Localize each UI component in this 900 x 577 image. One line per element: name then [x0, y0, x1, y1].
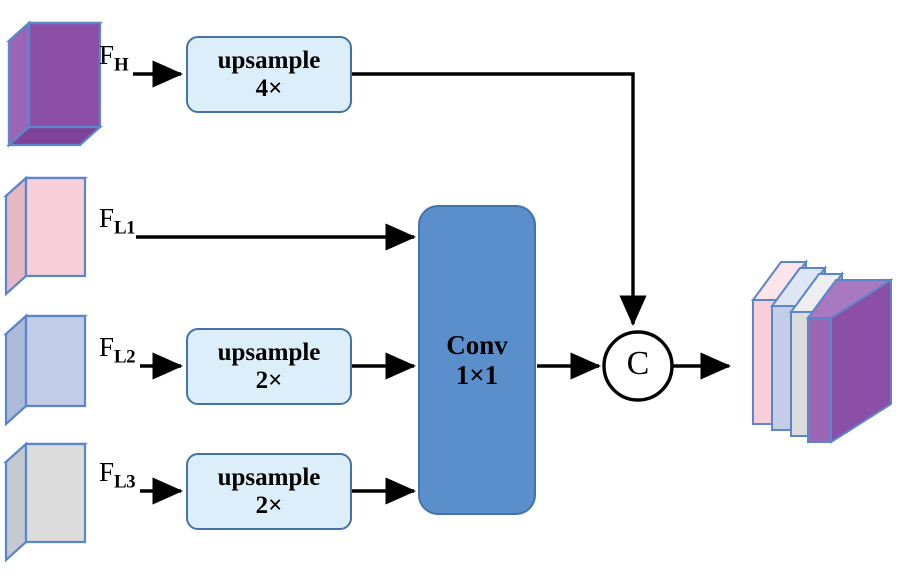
label-fl1: FL1 — [99, 203, 135, 239]
label-fl3-main: F — [99, 457, 114, 487]
upsample-4x-line1: upsample — [218, 47, 321, 75]
fl2-front-face — [26, 316, 85, 406]
label-fl3-sub: L3 — [114, 471, 135, 492]
fl2-side-face — [6, 316, 26, 424]
feature-map-fl2 — [6, 316, 85, 424]
feature-map-fl3 — [6, 444, 85, 560]
upsample-4x-box[interactable]: upsample 4× — [186, 36, 352, 113]
feature-map-fl1 — [6, 178, 85, 294]
upsample-2x-b-line2: 2× — [256, 492, 283, 520]
fl3-side-face — [6, 444, 26, 560]
upsample-2x-a-line1: upsample — [218, 339, 321, 367]
label-fl3: FL3 — [99, 457, 135, 493]
fh-side-face — [9, 23, 29, 145]
feature-map-fh — [9, 23, 100, 145]
upsample-2x-b-box[interactable]: upsample 2× — [186, 453, 352, 530]
upsample-2x-b-line1: upsample — [218, 464, 321, 492]
fh-front-face — [29, 23, 100, 127]
label-fh: FH — [99, 40, 128, 76]
label-fl1-main: F — [99, 203, 114, 233]
concat-symbol: C — [618, 345, 658, 383]
label-fl1-sub: L1 — [114, 217, 135, 238]
conv-line1: Conv — [446, 330, 508, 360]
fl1-side-face — [6, 178, 26, 294]
label-fh-sub: H — [114, 54, 128, 75]
conv-line2: 1×1 — [456, 360, 498, 390]
upsample-4x-line2: 4× — [256, 75, 283, 103]
conv-1x1-box[interactable]: Conv 1×1 — [418, 205, 536, 515]
output-layer-purple-left — [808, 318, 831, 442]
label-fl2-sub: L2 — [114, 346, 135, 367]
label-fl2: FL2 — [99, 332, 135, 368]
fl1-front-face — [26, 178, 85, 276]
label-fl2-main: F — [99, 332, 114, 362]
output-feature-stack — [753, 262, 891, 442]
label-fh-main: F — [99, 40, 114, 70]
upsample-2x-a-box[interactable]: upsample 2× — [186, 328, 352, 405]
fl3-front-face — [26, 444, 85, 542]
diagram-canvas: FH FL1 FL2 FL3 upsample 4× upsample 2× u… — [0, 0, 900, 577]
upsample-2x-a-line2: 2× — [256, 367, 283, 395]
